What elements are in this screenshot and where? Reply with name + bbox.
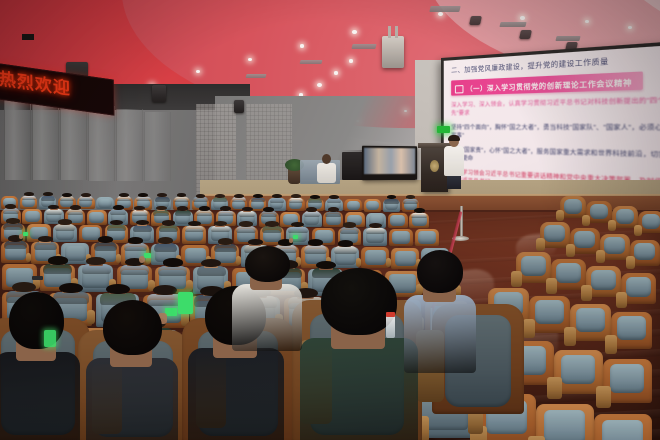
audience-member [153, 206, 169, 215]
audience-torso [67, 209, 83, 215]
audience-member [117, 193, 131, 201]
audience-member [327, 195, 341, 203]
audience-torso [308, 198, 322, 203]
audience-head [162, 220, 175, 226]
audience-torso [403, 199, 417, 204]
downlight [352, 30, 357, 34]
audience-head [24, 192, 34, 196]
audience-torso [159, 225, 179, 232]
audience-torso [154, 243, 177, 251]
audience-member [124, 237, 147, 250]
audience-head [48, 256, 68, 265]
empty-seat-cushion [642, 214, 660, 229]
curtain-panel [4, 96, 31, 180]
audience-member [110, 205, 126, 214]
empty-seat-cushion [544, 410, 585, 440]
audience-member [22, 192, 36, 200]
audience-member [366, 223, 386, 234]
audience-member [43, 256, 72, 272]
curtain-panel [88, 106, 115, 181]
audience-torso [110, 209, 126, 215]
foreground-audience-green-shirt [300, 268, 418, 440]
audience-head [158, 237, 173, 244]
air-vent [499, 22, 526, 27]
audience-torso [185, 226, 205, 233]
foreground-head [103, 300, 162, 355]
empty-seat-armrest [566, 244, 575, 257]
audience-member [82, 257, 111, 273]
foreground-audience-left [0, 292, 80, 440]
empty-seat-cushion [521, 256, 546, 276]
audience-member [158, 258, 187, 274]
stage-monitor [362, 146, 417, 181]
empty-seat-cushion [626, 277, 651, 297]
audience-torso [236, 226, 256, 233]
audience-torso [334, 246, 357, 254]
seat-armrest [356, 258, 362, 267]
empty-seat-armrest [536, 238, 545, 251]
audience-member [41, 192, 55, 200]
slide-paragraph-1: 深入学习、深入领会，认真学习贯彻习近平总书记对科技创新提出的"四个率先"要求 [451, 95, 660, 118]
audience-head [343, 222, 356, 228]
foreground-audience-white-shirt [232, 246, 302, 342]
audience-head [199, 206, 210, 211]
presenter-legs [447, 175, 461, 189]
audience-torso [94, 242, 117, 250]
audience-head [310, 195, 320, 199]
audience-torso [262, 226, 282, 233]
audience-member [79, 193, 93, 201]
audience-member [154, 237, 177, 250]
audience-member [155, 193, 169, 201]
audience-head [58, 219, 71, 225]
audience-member [175, 206, 191, 215]
audience-torso [43, 264, 72, 274]
audience-head [12, 282, 36, 293]
audience-torso [34, 242, 57, 250]
empty-seat-cushion [604, 237, 625, 254]
audience-member [308, 195, 322, 203]
empty-seat-armrest [596, 250, 605, 263]
empty-seat-armrest [528, 436, 545, 440]
audience-head [163, 258, 183, 267]
audience-torso [46, 209, 62, 215]
seat-cushion [418, 231, 436, 244]
air-vent [351, 44, 376, 49]
empty-seat-armrest [546, 278, 557, 294]
audience-torso [261, 211, 277, 217]
audience-head [188, 221, 201, 227]
stage-monitor-stand [22, 34, 34, 40]
audience-head [128, 237, 143, 244]
foreground-torso [232, 284, 302, 351]
downlight [317, 83, 322, 87]
foreground-head [417, 250, 463, 293]
audience-member [304, 207, 320, 216]
empty-seat-armrest [556, 210, 564, 221]
audience-member [211, 221, 231, 232]
audience-torso [120, 265, 149, 275]
empty-seat-armrest [582, 215, 590, 226]
seat-cushion [89, 212, 104, 223]
audience-torso [174, 197, 188, 202]
empty-seat-armrest [581, 285, 592, 301]
empty-seat-cushion [591, 270, 616, 290]
empty-seat-armrest [626, 256, 635, 269]
audience-torso [213, 197, 227, 202]
wall-speaker-right [234, 100, 244, 113]
ceiling-speaker [519, 30, 532, 39]
audience-head [113, 205, 124, 210]
empty-seat-cushion [564, 199, 582, 214]
seat-cushion [366, 201, 379, 210]
audience-member [3, 204, 19, 213]
audience-torso [251, 198, 265, 203]
seat-armrest [26, 253, 32, 262]
empty-seat-armrest [605, 335, 617, 354]
audience-member [174, 193, 188, 201]
audience-torso [117, 196, 131, 201]
audience-torso [22, 196, 36, 201]
presenter [444, 136, 464, 188]
foreground-audience-blue-shirt [404, 250, 476, 362]
seat-armrest [468, 411, 483, 434]
water-bottle [386, 316, 395, 338]
audience-head [242, 207, 253, 212]
seat-cushion [25, 211, 40, 222]
foreground-torso [0, 352, 80, 440]
empty-seat-armrest [616, 292, 627, 308]
audience-torso [55, 224, 75, 231]
downlight [300, 44, 304, 48]
audience-head [338, 240, 353, 247]
slide-paragraph-2: 坚持"四个面向"，胸怀"国之大者"，勇当科技"国家队"、"国家人"，必须心系"国… [451, 123, 660, 144]
audience-member [136, 193, 150, 201]
audience-torso [384, 199, 398, 204]
audience-head [81, 193, 91, 197]
presenter-hair [448, 135, 460, 141]
downlight [334, 71, 339, 75]
audience-member [132, 206, 148, 215]
empty-seat-cushion [544, 225, 565, 242]
foreground-head [245, 246, 290, 282]
audience-torso [158, 266, 187, 276]
empty-seat-armrest [547, 377, 562, 399]
audience-member [4, 235, 27, 248]
smartphone-screen [144, 253, 152, 258]
av-operator-body [317, 163, 336, 183]
foreground-torso [188, 348, 284, 440]
stage-equipment-cabinet [342, 152, 364, 180]
audience-member [232, 194, 246, 202]
foreground-audience-left-2 [86, 300, 178, 440]
audience-torso [218, 211, 234, 217]
curtain-panel [60, 102, 87, 180]
audience-torso [197, 266, 226, 276]
wall-speaker-mid [152, 85, 166, 102]
audience-member [159, 220, 179, 231]
curtain-panel [32, 99, 59, 180]
audience-torso [239, 211, 255, 217]
smartphone-screen [293, 235, 299, 239]
curtain-panel [144, 112, 171, 181]
audience-member [60, 193, 74, 201]
audience-torso [288, 227, 308, 234]
seat-cushion [390, 215, 405, 226]
audience-torso [132, 210, 148, 216]
air-vent [555, 36, 580, 41]
audience-head [5, 204, 16, 209]
audience-member [185, 221, 205, 232]
audience-torso [270, 198, 284, 203]
audience-torso [304, 245, 327, 253]
audience-torso [3, 223, 23, 230]
downlight [520, 16, 525, 20]
foreground-torso [86, 358, 178, 440]
downlight [438, 12, 443, 16]
audience-member [3, 218, 23, 229]
audience-head [177, 206, 188, 211]
audience-torso [325, 212, 341, 218]
foreground-smartphone-screen [178, 292, 193, 314]
audience-head [308, 239, 323, 246]
empty-seat-armrest [608, 220, 616, 231]
foreground-smartphone-screen-2 [44, 330, 56, 347]
audience-member [384, 195, 398, 203]
audience-member [403, 195, 417, 203]
stage-monitor-screen [364, 148, 415, 174]
stanchion [452, 206, 472, 244]
audience-head [414, 208, 425, 213]
empty-seat-cushion [616, 209, 634, 224]
audience-torso [41, 196, 55, 201]
empty-seat-cushion [561, 355, 595, 384]
audience-member [197, 259, 226, 275]
audience-torso [304, 211, 320, 217]
audience-member [34, 236, 57, 249]
empty-seat-armrest [564, 327, 576, 346]
audience-head [234, 194, 244, 198]
slide-paragraph-3: 肩负"国家责"，心怀"国之大者"，服务国家重大需求和世界科技前沿，切实履行职责使… [451, 146, 660, 172]
empty-seat-armrest [511, 271, 522, 287]
audience-torso [340, 227, 360, 234]
audience-head [239, 221, 252, 227]
audience-member [55, 219, 75, 230]
audience-head [98, 236, 113, 243]
audience-member [304, 239, 327, 252]
audience-member [261, 207, 277, 216]
seat-armrest [386, 258, 392, 267]
ceiling-speaker [469, 16, 482, 25]
audience-member [334, 240, 357, 253]
audience-torso [136, 197, 150, 202]
audience-head [62, 193, 72, 197]
audience-torso [124, 243, 147, 251]
audience-member [196, 206, 212, 215]
ceiling-projector [382, 36, 404, 68]
empty-seat-armrest [596, 386, 611, 408]
audience-torso [82, 264, 111, 274]
foreground-torso [404, 295, 476, 373]
audience-member [67, 205, 83, 214]
audience-head [306, 207, 317, 212]
audience-torso [196, 210, 212, 216]
audience-head [215, 194, 225, 198]
audience-head [106, 284, 130, 295]
empty-seat-cushion [617, 316, 646, 340]
audience-torso [211, 226, 231, 233]
audience-head [369, 223, 382, 229]
smartphone-screen [23, 232, 29, 236]
audience-member [288, 222, 308, 233]
audience-torso [175, 210, 191, 216]
av-operator-head [322, 154, 331, 164]
audience-torso [193, 197, 207, 202]
audience-member [107, 220, 127, 231]
audience-torso [232, 197, 246, 202]
audience-member [46, 205, 62, 214]
audience-member [236, 221, 256, 232]
audience-member [262, 221, 282, 232]
audience-head [6, 218, 19, 224]
audience-member [120, 258, 149, 274]
audience-torso [133, 225, 153, 232]
audience-torso [289, 198, 303, 203]
presenter-torso [444, 146, 464, 176]
audience-torso [327, 198, 341, 203]
seat-cushion [347, 201, 360, 210]
audience-torso [153, 210, 169, 216]
audience-torso [3, 208, 19, 214]
seat-cushion [365, 250, 386, 265]
empty-seat-cushion [576, 308, 605, 332]
audience-member [239, 207, 255, 216]
empty-seat-cushion [556, 263, 581, 283]
empty-seat-cushion [590, 204, 608, 219]
exit-sign-icon [437, 126, 450, 133]
audience-member [251, 194, 265, 202]
water-bottle-cap [386, 312, 395, 317]
audience-member [94, 236, 117, 249]
empty-seat-cushion [610, 364, 644, 393]
air-vent [246, 74, 267, 78]
audience-raised-arm [139, 256, 145, 263]
empty-seat-armrest [634, 225, 642, 236]
audience-head [265, 221, 278, 227]
air-vent [429, 6, 460, 12]
audience-head [272, 194, 282, 198]
audience-head [119, 193, 129, 197]
audience-member [218, 206, 234, 215]
audience-member [325, 207, 341, 216]
auditorium-photo: 热烈欢迎 二、加强党风廉政建设，提升党的建设工作质量 （一）深入学习贯彻党的创新… [0, 0, 660, 440]
audience-head [328, 207, 339, 212]
audience-torso [60, 196, 74, 201]
audience-member [133, 220, 153, 231]
empty-seat-cushion [535, 300, 564, 324]
audience-head [70, 205, 81, 210]
audience-torso [155, 197, 169, 202]
audience-torso [107, 225, 127, 232]
led-banner-text: 热烈欢迎 [0, 69, 71, 99]
audience-head [196, 194, 206, 198]
audience-member [193, 194, 207, 202]
foreground-torso [300, 338, 418, 440]
audience-member [340, 222, 360, 233]
audience-torso [79, 196, 93, 201]
seat-cushion [392, 231, 410, 244]
audience-torso [4, 241, 27, 249]
audience-member [411, 208, 427, 217]
slide-section-banner: （一）深入学习贯彻党的创新理论工作会议精神 [451, 71, 643, 95]
audience-member [213, 194, 227, 202]
audience-torso [366, 228, 386, 235]
empty-seat-cushion [602, 420, 643, 440]
audience-member [289, 194, 303, 202]
curtain-panel [116, 109, 143, 181]
lectern-emblem [430, 160, 439, 172]
camera-phone [32, 276, 43, 280]
empty-seat-cushion [634, 243, 655, 260]
audience-member [270, 194, 284, 202]
audience-head [218, 238, 233, 245]
audience-head [253, 194, 263, 198]
audience-torso [411, 213, 427, 219]
downlight [349, 59, 354, 63]
audience-head [153, 285, 177, 296]
audience-head [263, 207, 274, 212]
empty-seat-cushion [574, 231, 595, 248]
audience-head [329, 195, 339, 199]
empty-seat-armrest [523, 319, 535, 338]
air-vent [300, 60, 323, 64]
